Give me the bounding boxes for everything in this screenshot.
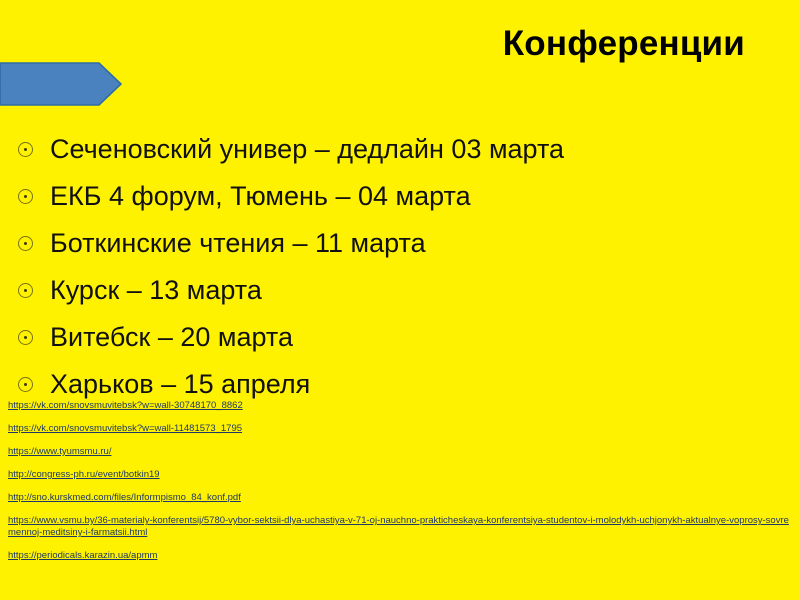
list-item-label: Курск – 13 марта [50, 269, 784, 311]
bullet-dot-icon [18, 330, 33, 345]
list-item: Сеченовский универ – дедлайн 03 марта [14, 128, 784, 175]
source-links: https://vk.com/snovsmuvitebsk?w=wall-307… [8, 400, 794, 573]
list-item-label: Витебск – 20 марта [50, 316, 784, 358]
source-link[interactable]: https://vk.com/snovsmuvitebsk?w=wall-307… [8, 400, 794, 412]
chevron-right-icon [0, 62, 122, 106]
list-item-label: ЕКБ 4 форум, Тюмень – 04 марта [50, 175, 784, 217]
source-link[interactable]: https://www.tyumsmu.ru/ [8, 446, 794, 458]
page-title: Конференции [300, 22, 745, 66]
source-link[interactable]: https://periodicals.karazin.ua/apmm [8, 550, 794, 562]
list-item-label: Боткинские чтения – 11 марта [50, 222, 784, 264]
list-item: Боткинские чтения – 11 марта [14, 222, 784, 269]
list-item: Витебск – 20 марта [14, 316, 784, 363]
bullet-dot-icon [18, 142, 33, 157]
list-item: Курск – 13 марта [14, 269, 784, 316]
list-item-label: Сеченовский универ – дедлайн 03 марта [50, 128, 784, 170]
bullet-dot-icon [18, 189, 33, 204]
bullet-dot-icon [18, 283, 33, 298]
conference-list: Сеченовский универ – дедлайн 03 марта ЕК… [14, 128, 784, 410]
title-block: Конференции [300, 22, 745, 66]
source-link[interactable]: https://www.vsmu.by/36-materialy-konfere… [8, 515, 794, 539]
list-item-label: Харьков – 15 апреля [50, 363, 784, 405]
bullet-dot-icon [18, 377, 33, 392]
source-link[interactable]: http://sno.kurskmed.com/files/Informpism… [8, 492, 794, 504]
source-link[interactable]: https://vk.com/snovsmuvitebsk?w=wall-114… [8, 423, 794, 435]
source-link[interactable]: http://congress-ph.ru/event/botkin19 [8, 469, 794, 481]
list-item: ЕКБ 4 форум, Тюмень – 04 марта [14, 175, 784, 222]
slide-canvas: Конференции Сеченовский универ – дедлайн… [0, 0, 800, 600]
bullet-dot-icon [18, 236, 33, 251]
